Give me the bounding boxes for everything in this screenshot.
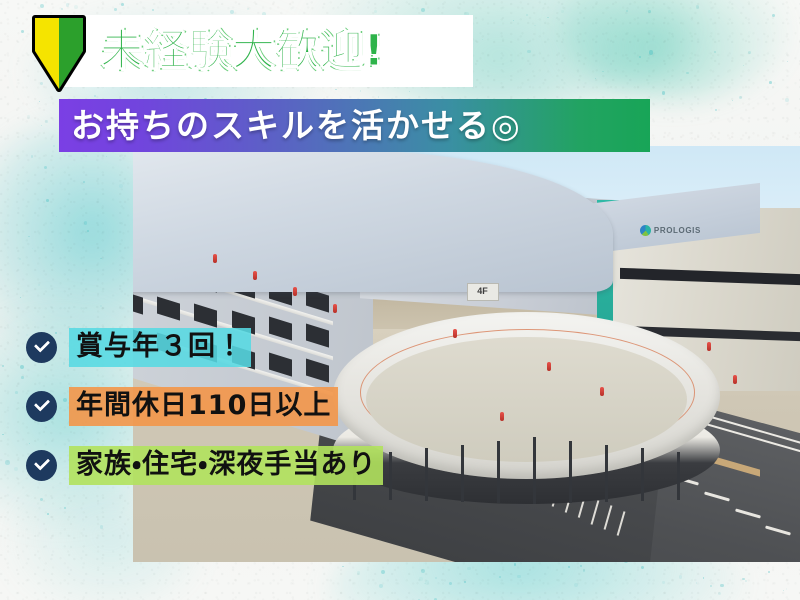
benefit-text: 年間休日110日以上 (69, 387, 338, 426)
headline-banner: 未経験大歓迎! (58, 15, 473, 87)
photo-ramp-inner (366, 337, 686, 462)
prologis-mark-icon (640, 225, 651, 236)
prologis-wordmark: PROLOGIS (654, 226, 701, 235)
banner-canvas: 4F PROLOGIS 未経験大歓迎! お持ちのスキルを活かせる◎ 賞与年３回！ (0, 0, 800, 600)
headline-text: 未経験大歓迎! (100, 30, 385, 73)
check-circle-icon (26, 391, 57, 422)
subheadline-text: お持ちのスキルを活かせる◎ (71, 109, 522, 142)
benefit-text: 家族・住宅・深夜手当あり (69, 446, 383, 485)
subheadline-banner: お持ちのスキルを活かせる◎ (59, 99, 650, 152)
check-circle-icon (26, 450, 57, 481)
benefit-text: 賞与年３回！ (69, 328, 251, 367)
wakaba-beginner-mark-icon (32, 15, 86, 92)
list-item: 賞与年３回！ (26, 328, 383, 367)
check-circle-icon (26, 332, 57, 363)
prologis-logo: PROLOGIS (640, 225, 701, 236)
benefit-list: 賞与年３回！ 年間休日110日以上 家族・住宅・深夜手当あり (26, 328, 383, 505)
floor-sign-4f: 4F (467, 283, 499, 301)
list-item: 年間休日110日以上 (26, 387, 383, 426)
list-item: 家族・住宅・深夜手当あり (26, 446, 383, 485)
